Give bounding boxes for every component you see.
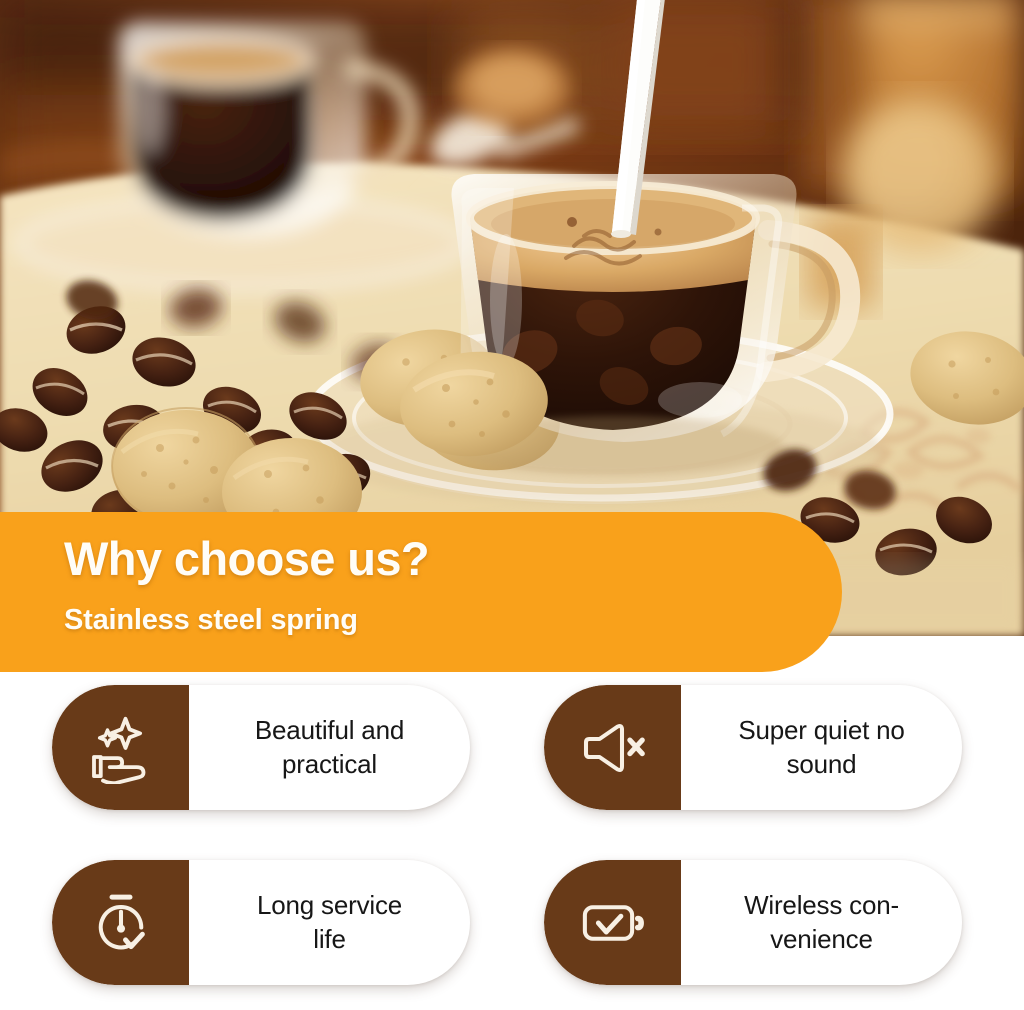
banner-content: Why choose us? Stainless steel spring bbox=[0, 512, 842, 672]
feature-card-label: Beautiful and practical bbox=[189, 685, 470, 810]
icon-panel bbox=[52, 685, 189, 810]
feature-label-line2: life bbox=[313, 924, 345, 954]
feature-card-label: Super quiet no sound bbox=[681, 685, 962, 810]
feature-label-line1: Beautiful and bbox=[255, 715, 404, 745]
feature-card-grid: Beautiful and practical Super quiet no s… bbox=[0, 672, 1024, 1010]
hand-sparkle-icon bbox=[85, 712, 157, 784]
banner-subheadline: Stainless steel spring bbox=[64, 606, 358, 635]
icon-panel bbox=[52, 860, 189, 985]
feature-label-line1: Wireless con- bbox=[744, 890, 899, 920]
feature-card-label: Wireless con- venience bbox=[681, 860, 962, 985]
speaker-mute-icon bbox=[577, 712, 649, 784]
feature-label-line1: Long service bbox=[257, 890, 402, 920]
feature-card-long-service-life[interactable]: Long service life bbox=[52, 860, 470, 985]
feature-label-line2: practical bbox=[282, 749, 377, 779]
feature-label-line2: venience bbox=[770, 924, 872, 954]
feature-card-beautiful-practical[interactable]: Beautiful and practical bbox=[52, 685, 470, 810]
feature-card-wireless-convenience[interactable]: Wireless con- venience bbox=[544, 860, 962, 985]
feature-label-line1: Super quiet no bbox=[738, 715, 904, 745]
banner-headline: Why choose us? bbox=[64, 535, 429, 582]
icon-panel bbox=[544, 860, 681, 985]
icon-panel bbox=[544, 685, 681, 810]
battery-check-icon bbox=[577, 887, 649, 959]
stopwatch-check-icon bbox=[85, 887, 157, 959]
why-choose-us-banner: Why choose us? Stainless steel spring bbox=[0, 512, 842, 672]
feature-card-label: Long service life bbox=[189, 860, 470, 985]
feature-label-line2: sound bbox=[787, 749, 857, 779]
feature-card-super-quiet[interactable]: Super quiet no sound bbox=[544, 685, 962, 810]
